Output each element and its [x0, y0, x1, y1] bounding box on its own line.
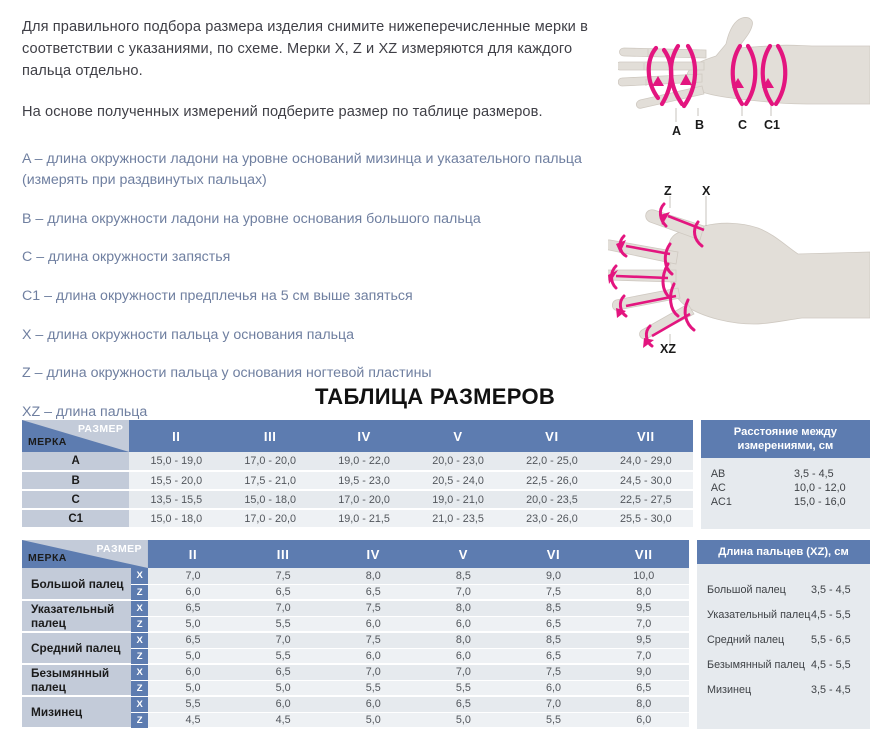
table-cell: 9,0	[508, 568, 598, 584]
table-cell: 7,0	[238, 632, 328, 648]
sub-row-label-x: X	[131, 664, 148, 680]
corner-size-label: РАЗМЕР	[78, 423, 123, 435]
table-cell: 20,0 - 23,0	[411, 452, 505, 471]
table-row: МизинецX5,56,06,06,57,08,0	[22, 696, 689, 712]
table-1-side-panel: Расстояние между измерениями, см AB3,5 -…	[701, 420, 870, 529]
table-cell: 5,5	[238, 648, 328, 664]
side-row-key: AB	[711, 467, 794, 481]
table-cell: 7,0	[418, 664, 508, 680]
side-panel-row: Указательный палец4,5 - 5,5	[697, 603, 870, 628]
table-cell: 6,0	[599, 712, 689, 728]
figure-label-x: X	[702, 184, 710, 198]
intro-text-block: Для правильного подбора размера изделия …	[22, 16, 622, 440]
table-cell: 7,5	[328, 600, 418, 616]
row-label-finger: Безымянный палец	[22, 664, 131, 696]
table-cell: 17,0 - 20,0	[223, 509, 317, 528]
side-row-value: 5,5 - 6,5	[811, 628, 870, 653]
table-cell: 5,5	[328, 680, 418, 696]
table-cell: 6,0	[328, 616, 418, 632]
table-cell: 19,0 - 21,5	[317, 509, 411, 528]
table-cell: 8,0	[418, 600, 508, 616]
table-cell: 19,0 - 21,0	[411, 490, 505, 509]
table-row: A15,0 - 19,017,0 - 20,019,0 - 22,020,0 -…	[22, 452, 693, 471]
table-cell: 17,5 - 21,0	[223, 471, 317, 490]
side-row-key: Большой палец	[707, 578, 811, 603]
table-cell: 22,5 - 27,5	[599, 490, 693, 509]
size-table-2: РАЗМЕР МЕРКА II III IV V VI VII Большой …	[22, 540, 689, 729]
col-header-vi: VI	[505, 420, 599, 452]
table-cell: 6,5	[328, 584, 418, 600]
table-cell: 6,0	[328, 648, 418, 664]
table-cell: 6,5	[238, 584, 328, 600]
table-row: Средний палецX6,57,07,58,08,59,5	[22, 632, 689, 648]
table-cell: 9,5	[599, 600, 689, 616]
corner-merka-label: МЕРКА	[28, 436, 67, 448]
side-row-value: 10,0 - 12,0	[794, 481, 860, 495]
table-cell: 7,5	[508, 584, 598, 600]
table-cell: 7,5	[508, 664, 598, 680]
table-cell: 19,0 - 22,0	[317, 452, 411, 471]
col-header-vii: VII	[599, 540, 689, 568]
table-row: Указательный палецX6,57,07,58,08,59,5	[22, 600, 689, 616]
table-cell: 21,0 - 23,5	[411, 509, 505, 528]
table-cell: 6,0	[328, 696, 418, 712]
row-label-c1: C1	[22, 509, 129, 528]
size-table-2-wrapper: РАЗМЕР МЕРКА II III IV V VI VII Большой …	[22, 540, 870, 729]
col-header-v: V	[411, 420, 505, 452]
size-guide-page: Для правильного подбора размера изделия …	[0, 0, 870, 752]
definition-x: X – длина окружности пальца у основания …	[22, 325, 602, 347]
hand-diagram-xz-icon: Z X XZ	[608, 178, 870, 360]
side-panel-row: Большой палец3,5 - 4,5	[697, 578, 870, 603]
sub-row-label-x: X	[131, 632, 148, 648]
table-cell: 15,0 - 19,0	[129, 452, 223, 471]
table-cell: 5,0	[148, 616, 238, 632]
measurement-definitions-list: A – длина окружности ладони на уровне ос…	[22, 149, 622, 424]
intro-paragraph-2: На основе полученных измерений подберите…	[22, 101, 622, 123]
corner-header-cell: РАЗМЕР МЕРКА	[22, 540, 148, 568]
figure-label-z: Z	[664, 184, 672, 198]
table-cell: 22,0 - 25,0	[505, 452, 599, 471]
side-row-value: 3,5 - 4,5	[794, 467, 860, 481]
table-cell: 5,5	[418, 680, 508, 696]
table-cell: 7,0	[508, 696, 598, 712]
row-label-finger: Средний палец	[22, 632, 131, 664]
size-table-1: РАЗМЕР МЕРКА II III IV V VI VII A15,0 - …	[22, 420, 693, 529]
corner-merka-label: МЕРКА	[28, 552, 67, 564]
col-header-iv: IV	[317, 420, 411, 452]
table-cell: 7,0	[418, 584, 508, 600]
row-label-finger: Указательный палец	[22, 600, 131, 632]
table-cell: 8,0	[328, 568, 418, 584]
definition-a: A – длина окружности ладони на уровне ос…	[22, 149, 602, 192]
table-row: B15,5 - 20,017,5 - 21,019,5 - 23,020,5 -…	[22, 471, 693, 490]
table-cell: 4,5	[238, 712, 328, 728]
table-cell: 5,0	[328, 712, 418, 728]
table-cell: 6,5	[148, 632, 238, 648]
table-cell: 6,5	[418, 696, 508, 712]
table-cell: 5,5	[238, 616, 328, 632]
figure-label-c: C	[738, 118, 747, 132]
side-row-key: AC	[711, 481, 794, 495]
table-cell: 10,0	[599, 568, 689, 584]
col-header-v: V	[418, 540, 508, 568]
figure-label-b: B	[695, 118, 704, 132]
figure-label-c1: C1	[764, 118, 780, 132]
table-cell: 17,0 - 20,0	[317, 490, 411, 509]
col-header-vii: VII	[599, 420, 693, 452]
col-header-ii: II	[129, 420, 223, 452]
side-panel-row: Мизинец3,5 - 4,5	[697, 678, 870, 703]
col-header-iii: III	[223, 420, 317, 452]
side-row-key: AC1	[711, 495, 794, 509]
table-cell: 7,0	[238, 600, 328, 616]
row-label-finger: Большой палец	[22, 568, 131, 600]
table-cell: 13,5 - 15,5	[129, 490, 223, 509]
table-cell: 5,0	[148, 648, 238, 664]
page-title: ТАБЛИЦА РАЗМЕРОВ	[0, 384, 870, 410]
table-cell: 7,0	[328, 664, 418, 680]
table-cell: 7,0	[599, 648, 689, 664]
side-panel-2-header: Длина пальцев (XZ), см	[697, 540, 870, 564]
corner-header-cell: РАЗМЕР МЕРКА	[22, 420, 129, 452]
side-row-value: 4,5 - 5,5	[811, 653, 870, 678]
table-cell: 6,5	[599, 680, 689, 696]
table-cell: 8,0	[599, 696, 689, 712]
table-cell: 23,0 - 26,0	[505, 509, 599, 528]
table-cell: 17,0 - 20,0	[223, 452, 317, 471]
row-label-c: C	[22, 490, 129, 509]
sub-row-label-x: X	[131, 600, 148, 616]
table-cell: 20,5 - 24,0	[411, 471, 505, 490]
definition-z: Z – длина окружности пальца у основания …	[22, 363, 602, 385]
table-row: C13,5 - 15,515,0 - 18,017,0 - 20,019,0 -…	[22, 490, 693, 509]
size-table-1-wrapper: РАЗМЕР МЕРКА II III IV V VI VII A15,0 - …	[22, 420, 870, 529]
side-row-key: Мизинец	[707, 678, 811, 703]
table-cell: 8,5	[508, 632, 598, 648]
side-row-value: 4,5 - 5,5	[811, 603, 870, 628]
table-cell: 9,0	[599, 664, 689, 680]
hand-diagram-abc-icon: A B C C1	[618, 4, 870, 154]
side-panel-row: AC115,0 - 16,0	[701, 495, 870, 509]
row-label-a: A	[22, 452, 129, 471]
row-label-finger: Мизинец	[22, 696, 131, 728]
sub-row-label-z: Z	[131, 712, 148, 728]
side-panel-row: AC10,0 - 12,0	[701, 481, 870, 495]
table-cell: 9,5	[599, 632, 689, 648]
table-row: C115,0 - 18,017,0 - 20,019,0 - 21,521,0 …	[22, 509, 693, 528]
col-header-vi: VI	[508, 540, 598, 568]
intro-paragraph-1: Для правильного подбора размера изделия …	[22, 16, 622, 83]
table-cell: 7,5	[238, 568, 328, 584]
table-cell: 5,0	[238, 680, 328, 696]
col-header-ii: II	[148, 540, 238, 568]
table-cell: 20,0 - 23,5	[505, 490, 599, 509]
figure-label-a: A	[672, 124, 681, 138]
table-cell: 8,0	[418, 632, 508, 648]
table-cell: 24,5 - 30,0	[599, 471, 693, 490]
definition-c1: C1 – длина окружности предплечья на 5 см…	[22, 286, 602, 308]
sub-row-label-z: Z	[131, 680, 148, 696]
table-cell: 15,0 - 18,0	[129, 509, 223, 528]
sub-row-label-x: X	[131, 696, 148, 712]
table-cell: 24,0 - 29,0	[599, 452, 693, 471]
table-cell: 8,5	[418, 568, 508, 584]
table-row: Большой палецX7,07,58,08,59,010,0	[22, 568, 689, 584]
table-cell: 8,0	[599, 584, 689, 600]
table-cell: 6,0	[148, 584, 238, 600]
side-row-key: Средний палец	[707, 628, 811, 653]
side-panel-1-header: Расстояние между измерениями, см	[701, 420, 870, 458]
side-row-value: 3,5 - 4,5	[811, 578, 870, 603]
sub-row-label-z: Z	[131, 584, 148, 600]
table-cell: 7,0	[148, 568, 238, 584]
sub-row-label-x: X	[131, 568, 148, 584]
table-2-side-panel: Длина пальцев (XZ), см Большой палец3,5 …	[697, 540, 870, 729]
table-cell: 6,0	[148, 664, 238, 680]
table-cell: 22,5 - 26,0	[505, 471, 599, 490]
row-label-b: B	[22, 471, 129, 490]
table-cell: 7,5	[328, 632, 418, 648]
table-cell: 5,0	[148, 680, 238, 696]
table-cell: 15,5 - 20,0	[129, 471, 223, 490]
definition-b: B – длина окружности ладони на уровне ос…	[22, 209, 602, 231]
table-cell: 5,5	[508, 712, 598, 728]
table-cell: 15,0 - 18,0	[223, 490, 317, 509]
side-panel-row: AB3,5 - 4,5	[701, 467, 870, 481]
side-row-value: 3,5 - 4,5	[811, 678, 870, 703]
side-panel-row: Безымянный палец4,5 - 5,5	[697, 653, 870, 678]
sub-row-label-z: Z	[131, 648, 148, 664]
table-cell: 4,5	[148, 712, 238, 728]
side-row-key: Указательный палец	[707, 603, 811, 628]
corner-size-label: РАЗМЕР	[97, 543, 142, 555]
side-row-value: 15,0 - 16,0	[794, 495, 860, 509]
table-cell: 6,0	[508, 680, 598, 696]
table-cell: 6,5	[148, 600, 238, 616]
table-cell: 6,5	[508, 648, 598, 664]
table-cell: 5,5	[148, 696, 238, 712]
table-cell: 6,0	[418, 648, 508, 664]
col-header-iii: III	[238, 540, 328, 568]
side-row-key: Безымянный палец	[707, 653, 811, 678]
table-cell: 7,0	[599, 616, 689, 632]
table-cell: 6,5	[508, 616, 598, 632]
table-cell: 5,0	[418, 712, 508, 728]
sub-row-label-z: Z	[131, 616, 148, 632]
table-header-row: РАЗМЕР МЕРКА II III IV V VI VII	[22, 540, 689, 568]
table-cell: 6,0	[238, 696, 328, 712]
table-cell: 8,5	[508, 600, 598, 616]
table-header-row: РАЗМЕР МЕРКА II III IV V VI VII	[22, 420, 693, 452]
side-panel-row: Средний палец5,5 - 6,5	[697, 628, 870, 653]
definition-c: C – длина окружности запястья	[22, 247, 602, 269]
table-cell: 6,0	[418, 616, 508, 632]
table-row: Безымянный палецX6,06,57,07,07,59,0	[22, 664, 689, 680]
col-header-iv: IV	[328, 540, 418, 568]
figure-label-xz: XZ	[660, 342, 676, 356]
table-cell: 25,5 - 30,0	[599, 509, 693, 528]
table-cell: 6,5	[238, 664, 328, 680]
table-cell: 19,5 - 23,0	[317, 471, 411, 490]
